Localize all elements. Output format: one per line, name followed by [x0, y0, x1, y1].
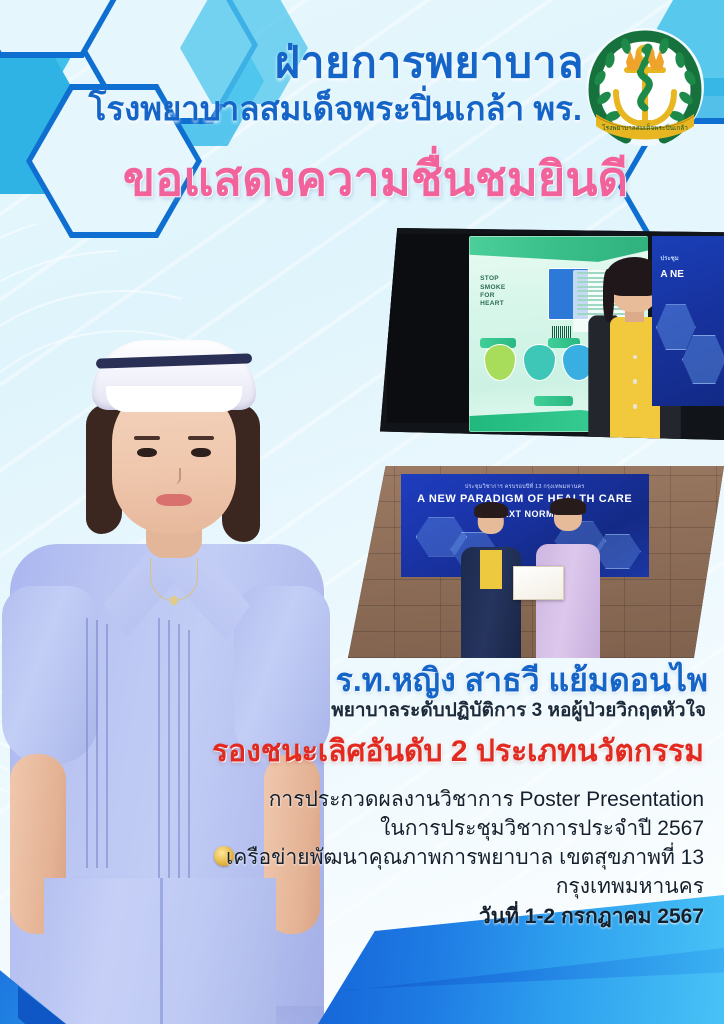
banner-main-line2: IN NEXT NORMAL — [401, 509, 649, 519]
poster-step-bubble — [484, 344, 516, 381]
award-detail-line-2: ในการประชุมวิชาการประจำปี 2567 — [0, 815, 704, 843]
awardee-role: พยาบาลระดับปฏิบัติการ 3 หอผู้ป่วยวิกฤตหั… — [0, 700, 706, 723]
nurse-eye-left — [137, 448, 157, 457]
nurse-brow-left — [134, 436, 160, 440]
congratulation-poster: โรงพยาบาลสมเด็จพระปิ่นเกล้า ฝ่ายการพยาบา… — [0, 0, 724, 1024]
nurse-eye-right — [191, 448, 211, 457]
nurse-mouth — [156, 494, 192, 506]
side-screen-line1: ประชุม — [660, 253, 678, 263]
award-detail-line-3: เครือข่ายพัฒนาคุณภาพการพยาบาล เขตสุขภาพท… — [0, 844, 704, 872]
presenter-hair — [474, 502, 508, 518]
congratulation-headline: ขอแสดงความชื่นชมยินดี — [0, 155, 628, 202]
emblem-banner-text: โรงพยาบาลสมเด็จพระปิ่นเกล้า — [602, 123, 688, 132]
banner-thai-subtitle: ประชุมวิชาการ ครบรอบปีที่ 13 กรุงเทพมหาน… — [401, 483, 649, 491]
recipient-hair — [550, 498, 586, 515]
banner-main-line1: A NEW PARADIGM OF HEALTH CARE — [401, 493, 649, 505]
recipient-dress — [536, 544, 600, 658]
award-prize-title: รองชนะเลิศอันดับ 2 ประเภทนวัตกรรม — [0, 735, 704, 768]
nurse-cap — [92, 340, 256, 410]
nurse-nose — [170, 468, 181, 484]
presenter-blouse — [480, 550, 502, 589]
nurse-brow-right — [188, 436, 214, 440]
org-title-line2: โรงพยาบาลสมเด็จพระปิ่นเกล้า พร. — [0, 92, 582, 125]
emblem-svg: โรงพยาบาลสมเด็จพระปิ่นเกล้า — [586, 28, 704, 146]
awardee-name: ร.ท.หญิง สาธวี แย้มดอนไพ — [0, 664, 708, 698]
side-conference-screen: ประชุม A NE — [652, 236, 724, 406]
presenter-hair-left — [603, 269, 615, 322]
award-presenter-person — [461, 508, 521, 658]
side-screen-line2: A NE — [660, 269, 684, 280]
poster-title-text: STOP SMOKE FOR HEART — [480, 275, 505, 308]
navy-hospital-emblem-logo: โรงพยาบาลสมเด็จพระปิ่นเกล้า — [586, 28, 704, 146]
poster-presentation-photo: STOP SMOKE FOR HEART — [380, 228, 724, 440]
award-certificate — [513, 566, 564, 601]
award-detail-line-4: กรุงเทพมหานคร — [0, 873, 704, 901]
award-detail-line-1: การประกวดผลงานวิชาการ Poster Presentatio… — [0, 786, 704, 814]
award-ceremony-photo: ประชุมวิชาการ ครบรอบปีที่ 13 กรุงเทพมหาน… — [348, 466, 724, 658]
conference-backdrop-banner: ประชุมวิชาการ ครบรอบปีที่ 13 กรุงเทพมหาน… — [401, 474, 649, 578]
org-title-line1: ฝ่ายการพยาบาล — [0, 42, 584, 85]
award-date-line: วันที่ 1-2 กรกฎาคม 2567 — [0, 903, 704, 931]
poster-step-bubble — [523, 344, 555, 381]
poster-label-pill — [534, 396, 573, 406]
